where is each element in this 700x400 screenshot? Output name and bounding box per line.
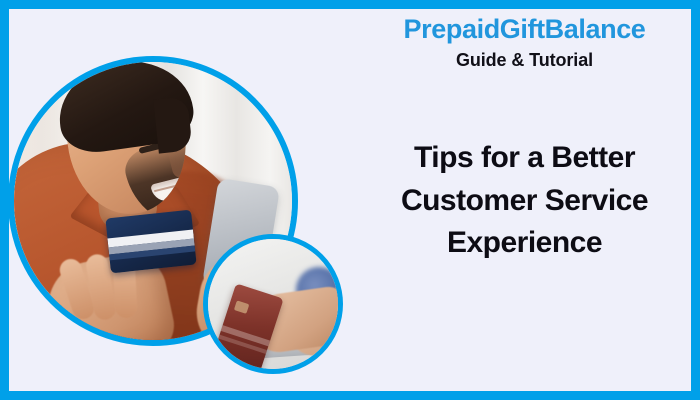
blue-credit-card (105, 210, 196, 274)
brand-subtitle: Guide & Tutorial (456, 51, 593, 71)
headline: Tips for a Better Customer Service Exper… (349, 137, 700, 265)
card-chip (234, 300, 249, 314)
imagery-stage (0, 0, 360, 400)
text-column: PrepaidGiftBalance Guide & Tutorial Tips… (349, 9, 700, 391)
inset-photo-circle (203, 234, 343, 374)
promo-banner: PrepaidGiftBalance Guide & Tutorial Tips… (0, 0, 700, 400)
headline-line-1: Tips for a Better (349, 137, 700, 180)
brand-title: PrepaidGiftBalance (404, 15, 646, 45)
headline-line-3: Experience (349, 222, 700, 265)
headline-line-2: Customer Service (349, 180, 700, 223)
